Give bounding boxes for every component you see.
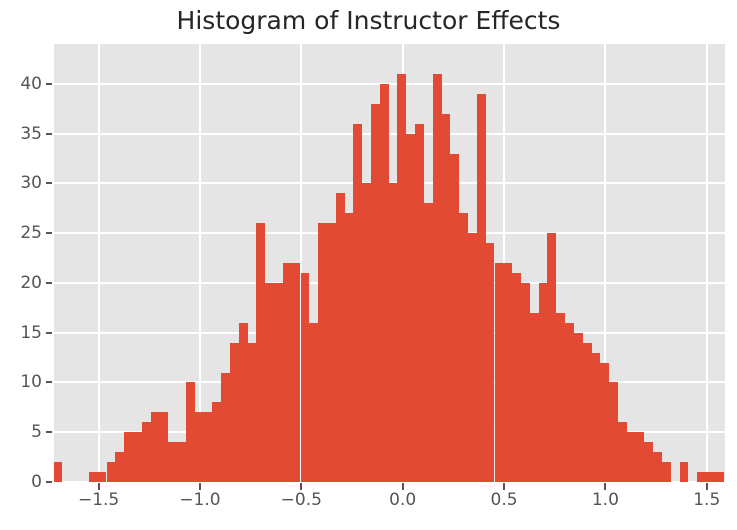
y-tick-mark — [46, 232, 52, 234]
histogram-bar — [142, 422, 151, 482]
histogram-bar — [318, 223, 327, 482]
y-tick-label: 15 — [2, 323, 42, 343]
y-tick-label: 30 — [2, 173, 42, 193]
histogram-bar — [424, 203, 433, 482]
x-tick-label: 0.5 — [469, 490, 539, 510]
histogram-bar — [54, 462, 62, 482]
histogram-bar — [503, 263, 512, 482]
histogram-bar — [468, 233, 477, 482]
x-tick-mark — [300, 483, 302, 490]
y-tick-label: 35 — [2, 124, 42, 144]
y-tick-mark — [46, 381, 52, 383]
histogram-bar — [415, 124, 424, 482]
histogram-bar — [477, 94, 486, 482]
histogram-bar — [265, 283, 274, 482]
histogram-bar — [115, 452, 124, 482]
histogram-bar — [706, 472, 715, 482]
histogram-bar — [618, 422, 627, 482]
histogram-bar — [565, 323, 574, 482]
histogram-bar — [195, 412, 204, 482]
histogram-bar — [591, 353, 600, 482]
histogram-bar — [371, 104, 380, 482]
histogram-bar — [406, 134, 415, 482]
histogram-bar — [600, 363, 609, 482]
histogram-bar — [274, 283, 283, 482]
histogram-bar — [627, 432, 636, 482]
x-tick-label: 1.5 — [672, 490, 737, 510]
histogram-bar — [583, 343, 592, 482]
histogram-figure: Histogram of Instructor Effects 05101520… — [0, 0, 737, 530]
gridline-y-8 — [54, 83, 725, 85]
x-tick-label: −0.5 — [266, 490, 336, 510]
histogram-bar — [168, 442, 177, 482]
histogram-bar — [574, 333, 583, 482]
histogram-bar — [230, 343, 239, 482]
gridline-x-0 — [98, 44, 100, 482]
histogram-bar — [459, 213, 468, 482]
histogram-bar — [239, 323, 248, 482]
x-tick-mark — [503, 483, 505, 490]
histogram-bar — [186, 382, 195, 482]
histogram-bar — [133, 432, 142, 482]
histogram-bar — [248, 343, 257, 482]
histogram-bar — [256, 223, 265, 482]
histogram-bar — [212, 402, 221, 482]
histogram-bar — [389, 183, 398, 482]
x-tick-mark — [98, 483, 100, 490]
y-tick-label: 0 — [2, 472, 42, 492]
y-tick-label: 5 — [2, 422, 42, 442]
histogram-bar — [292, 263, 301, 482]
y-tick-label: 25 — [2, 223, 42, 243]
histogram-bar — [433, 74, 442, 482]
histogram-bar — [362, 183, 371, 482]
histogram-bar — [697, 472, 706, 482]
histogram-bar — [636, 432, 645, 482]
histogram-bar — [450, 154, 459, 483]
histogram-bar — [283, 263, 292, 482]
histogram-bar — [644, 442, 653, 482]
y-tick-mark — [46, 431, 52, 433]
x-tick-mark — [199, 483, 201, 490]
y-tick-mark — [46, 481, 52, 483]
histogram-bar — [521, 283, 530, 482]
histogram-bar — [98, 472, 107, 482]
histogram-bar — [301, 273, 310, 482]
x-tick-label: −1.5 — [64, 490, 134, 510]
x-tick-label: 1.0 — [570, 490, 640, 510]
histogram-bar — [397, 74, 406, 482]
histogram-bar — [345, 213, 354, 482]
histogram-bar — [680, 462, 689, 482]
y-tick-mark — [46, 133, 52, 135]
histogram-bar — [159, 412, 168, 482]
x-tick-mark — [706, 483, 708, 490]
y-tick-mark — [46, 282, 52, 284]
histogram-bar — [653, 452, 662, 482]
gridline-y-7 — [54, 133, 725, 135]
y-tick-label: 10 — [2, 372, 42, 392]
histogram-bar — [442, 114, 451, 482]
histogram-bar — [495, 263, 504, 482]
y-tick-mark — [46, 332, 52, 334]
x-tick-label: −1.0 — [165, 490, 235, 510]
histogram-bar — [609, 382, 618, 482]
histogram-bar — [124, 432, 133, 482]
histogram-bar — [380, 84, 389, 482]
histogram-bar — [177, 442, 186, 482]
plot-area — [54, 44, 725, 482]
histogram-bar — [547, 233, 556, 482]
histogram-bar — [662, 462, 671, 482]
x-tick-label: 0.0 — [368, 490, 438, 510]
y-tick-label: 40 — [2, 74, 42, 94]
histogram-bar — [89, 472, 98, 482]
y-tick-label: 20 — [2, 273, 42, 293]
gridline-x-6 — [706, 44, 708, 482]
histogram-bar — [539, 283, 548, 482]
histogram-bar — [715, 472, 724, 482]
histogram-bar — [556, 313, 565, 482]
histogram-bar — [336, 193, 345, 482]
histogram-bar — [353, 124, 362, 482]
y-tick-mark — [46, 83, 52, 85]
histogram-bar — [203, 412, 212, 482]
histogram-bar — [221, 373, 230, 483]
histogram-bar — [107, 462, 116, 482]
histogram-bar — [151, 412, 160, 482]
histogram-bar — [530, 313, 539, 482]
histogram-bar — [309, 323, 318, 482]
histogram-bar — [486, 243, 495, 482]
histogram-bar — [327, 223, 336, 482]
x-tick-mark — [402, 483, 404, 490]
x-tick-mark — [604, 483, 606, 490]
y-tick-mark — [46, 182, 52, 184]
chart-title: Histogram of Instructor Effects — [0, 6, 737, 35]
histogram-bar — [512, 273, 521, 482]
